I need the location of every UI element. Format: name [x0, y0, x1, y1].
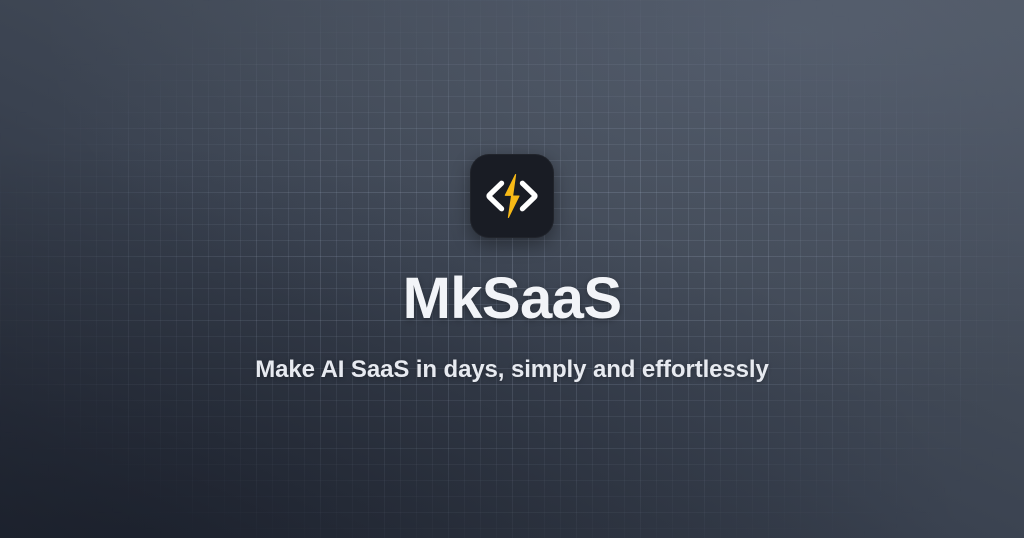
left-angle-bracket-icon [489, 183, 502, 209]
og-card-canvas: MkSaaS Make AI SaaS in days, simply and … [0, 0, 1024, 538]
brand-content-stack: MkSaaS Make AI SaaS in days, simply and … [0, 0, 1024, 538]
code-brackets-lightning-bolt-icon [480, 164, 544, 228]
right-angle-bracket-icon [522, 183, 535, 209]
brand-title: MkSaaS [403, 270, 622, 328]
brand-logo-tile [470, 154, 554, 238]
brand-tagline: Make AI SaaS in days, simply and effortl… [255, 356, 768, 385]
lightning-bolt-icon [505, 174, 519, 217]
